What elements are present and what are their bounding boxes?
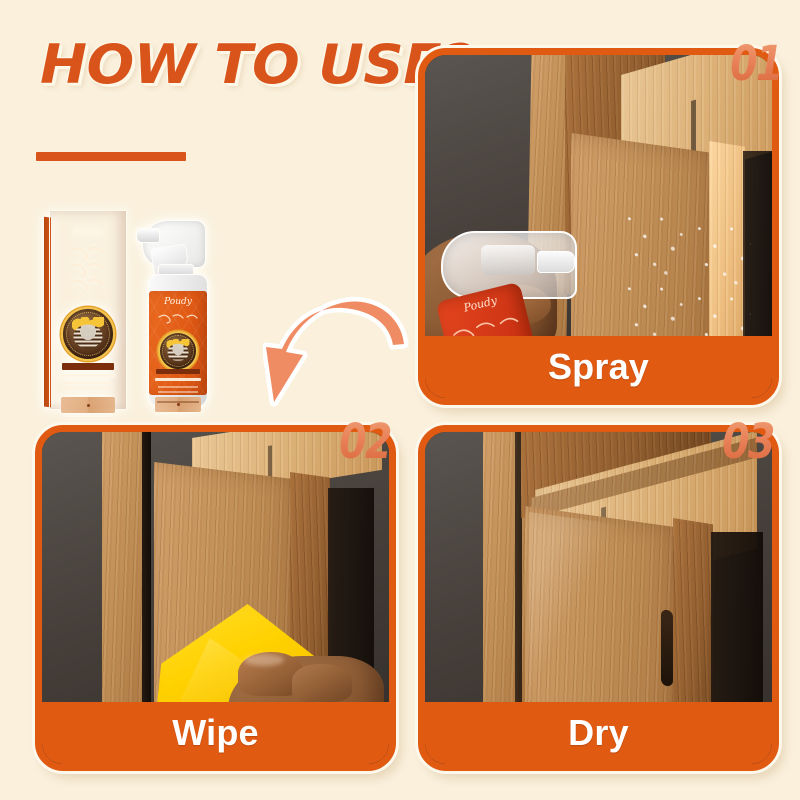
spray-nozzle [537,251,575,273]
title-block: HOW TO USE? [36,28,436,168]
curved-flow-arrow [263,292,413,410]
step-caption-dry: Dry [425,702,772,764]
title-underline-rule [36,152,186,161]
step-panel-dry[interactable]: Dry [418,425,779,771]
box-brand-script: Poudy [50,227,126,238]
step-number-03: 03 [722,414,773,470]
box-window-swatch [61,397,115,413]
bottle-label: Poudy [149,291,207,395]
emblem-ring [66,312,110,356]
page-title: HOW TO USE? [40,38,473,92]
bottle-volume-text [157,401,199,403]
bottle-nozzle [136,228,160,243]
bottle-swoosh-decoration [156,311,200,329]
step-panel-wipe[interactable]: Wipe [35,425,396,771]
product-bottle: Poudy [136,198,222,411]
bottle-microcopy-1 [158,386,198,388]
bottle-window-swatch [155,397,201,412]
spray-bottle-collar [481,245,535,275]
infographic-canvas: HOW TO USE? Poudy [0,0,800,800]
middle-finger [292,664,352,702]
box-tagline-bar [60,374,116,377]
bottle-brand-script: Poudy [149,297,207,307]
box-swoosh-decoration [65,243,111,299]
bottle-badge-bar [156,369,200,374]
knuckle-highlight [244,654,284,666]
bottle-tagline-bar [155,378,201,381]
box-microcopy-2 [64,387,112,389]
step-number-01: 01 [731,36,782,92]
box-microcopy-1 [64,382,112,384]
emblem-ring [162,335,194,367]
product-shot: Poudy [36,198,236,413]
step-caption-spray: Spray [425,336,772,398]
product-box: Poudy [49,210,127,410]
step-panel-spray[interactable]: Poudy Spray [418,48,779,405]
bottle-bee-emblem [158,331,198,371]
step-caption-wipe: Wipe [42,702,389,764]
box-front-panel: Poudy [49,210,127,410]
bottle-body: Poudy [148,274,208,408]
box-volume-text [64,417,112,419]
box-badge-bar [62,363,114,370]
box-bee-emblem [61,307,115,361]
step-number-02: 02 [339,414,390,470]
bottle-microcopy-2 [158,391,198,393]
